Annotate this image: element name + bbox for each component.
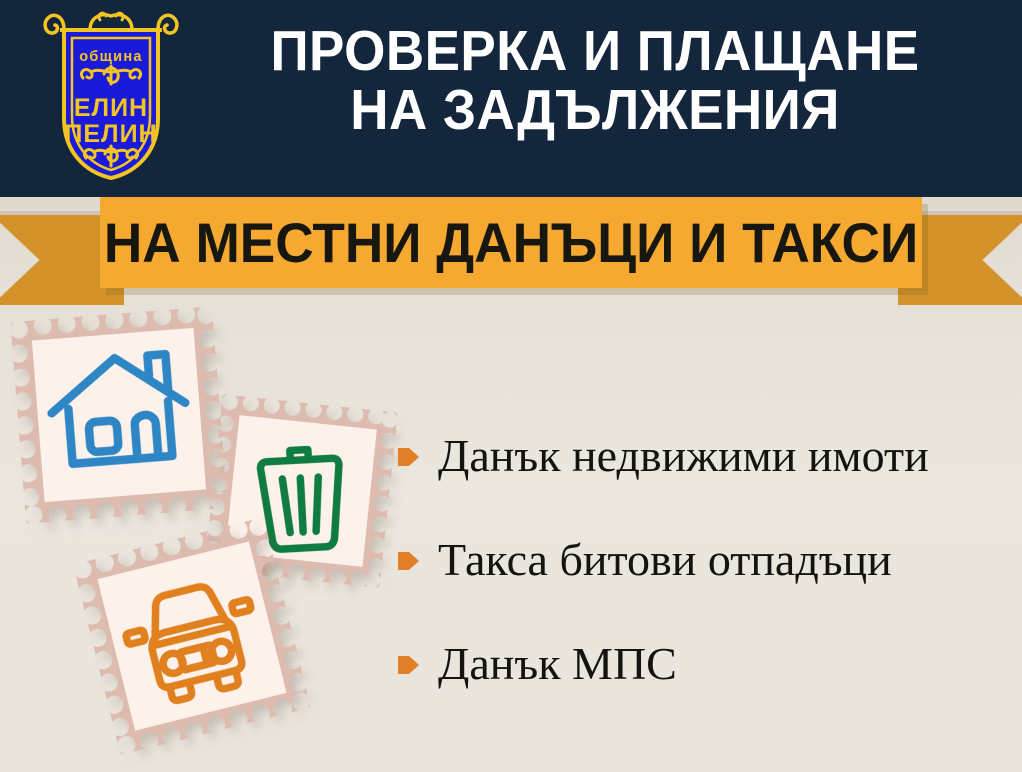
stamp-group [0,300,430,772]
arrow-bullet-icon [398,548,420,574]
tax-type-list: Данък недвижими имоти Такса битови отпад… [398,430,1008,742]
list-item[interactable]: Данък МПС [398,638,1008,690]
title-line-2: НА ЗАДЪЛЖЕНИЯ [216,81,973,140]
title-line-1: ПРОВЕРКА И ПЛАЩАНЕ [270,19,919,83]
stamp-property-tax [4,300,234,530]
svg-text:община: община [79,49,143,65]
list-item[interactable]: Такса битови отпадъци [398,534,1008,586]
poster-root: община ЕЛИН ПЕЛИН [0,0,1022,772]
crest-logo: община ЕЛИН ПЕЛИН [38,6,184,188]
header-bar: община ЕЛИН ПЕЛИН [0,0,1022,197]
page-title: ПРОВЕРКА И ПЛАЩАНЕ НА ЗАДЪЛЖЕНИЯ [216,22,973,140]
svg-text:ЕЛИН: ЕЛИН [74,94,148,122]
list-item-label: Данък МПС [438,639,677,689]
list-item[interactable]: Данък недвижими имоти [398,430,1008,482]
ribbon-label: НА МЕСТНИ ДАНЪЦИ И ТАКСИ [121,197,902,288]
svg-text:ПЕЛИН: ПЕЛИН [64,120,157,148]
arrow-bullet-icon [398,652,420,678]
arrow-bullet-icon [398,444,420,470]
list-item-label: Данък недвижими имоти [438,431,929,481]
subtitle-ribbon: НА МЕСТНИ ДАНЪЦИ И ТАКСИ [0,197,1022,309]
list-item-label: Такса битови отпадъци [438,535,892,585]
